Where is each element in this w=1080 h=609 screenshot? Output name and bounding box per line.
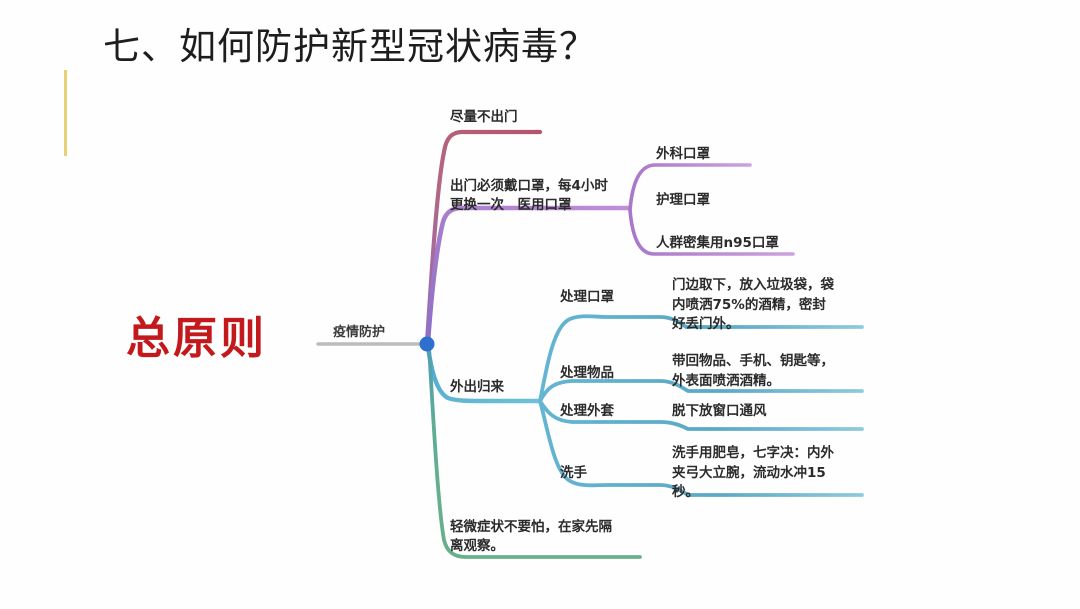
mindmap-node-surgical-mask[interactable]: 外科口罩 [656,145,710,164]
mindmap-node-handle-coat[interactable]: 处理外套 [560,402,614,421]
mindmap-node-return-home[interactable]: 外出归来 [450,378,504,397]
mindmap-detail-handle-coat: 脱下放窗口通风 [672,402,767,422]
mindmap-node-mild-symptoms[interactable]: 轻微症状不要怕，在家先隔 离观察。 [450,518,612,556]
mindmap-node-wear-mask[interactable]: 出门必须戴口罩，每4小时 更换一次 医用口罩 [450,177,608,215]
mindmap-node-handle-items[interactable]: 处理物品 [560,364,614,383]
mindmap-node-stay-home[interactable]: 尽量不出门 [450,108,518,127]
mindmap-detail-handle-mask: 门边取下，放入垃圾袋，袋 内喷洒75%的酒精，密封 好丢门外。 [672,276,834,335]
mindmap-node-n95-mask[interactable]: 人群密集用n95口罩 [656,234,779,253]
mindmap-root-label[interactable]: 疫情防护 [333,324,385,342]
mindmap-detail-wash-hands: 洗手用肥皂，七字决：内外 夹弓大立腕，流动水冲15 秒。 [672,444,834,503]
mindmap-node-wash-hands[interactable]: 洗手 [560,464,587,483]
mindmap-node-nursing-mask[interactable]: 护理口罩 [656,191,710,210]
mindmap-detail-handle-items: 带回物品、手机、钥匙等， 外表面喷洒酒精。 [672,352,834,391]
mindmap-node-handle-mask[interactable]: 处理口罩 [560,288,614,307]
mindmap-label-layer: 疫情防护 尽量不出门 出门必须戴口罩，每4小时 更换一次 医用口罩 外科口罩 护… [0,0,1080,609]
